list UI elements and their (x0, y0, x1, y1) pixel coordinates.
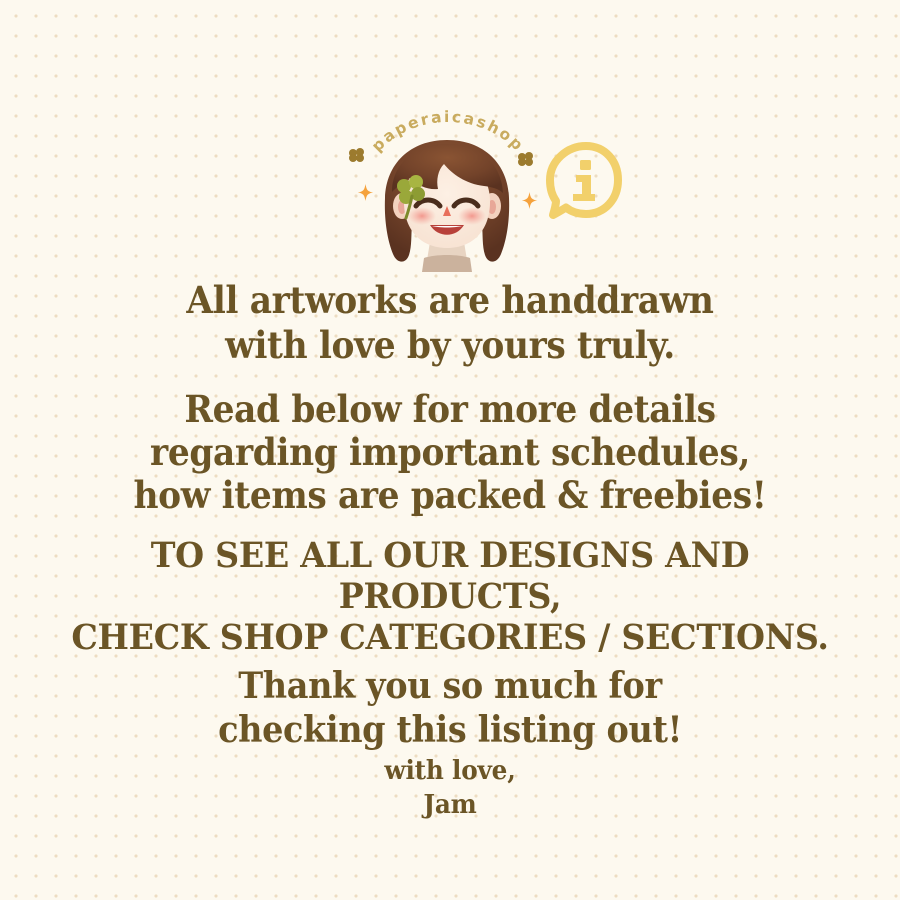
signature-line-1: with love, (23, 754, 878, 788)
listing-info-card: paperaicashop (0, 0, 900, 900)
thanks-line-2: checking this listing out! (32, 708, 869, 752)
signature-line-2: Jam (23, 788, 878, 822)
info-dot (580, 160, 591, 170)
info-letter-stem (573, 175, 595, 201)
thanks-line-1: Thank you so much for (32, 664, 869, 708)
callout-line-3: CHECK SHOP CATEGORIES / SECTIONS. (23, 617, 878, 658)
signature: with love, Jam (23, 754, 878, 822)
collar (422, 255, 472, 272)
paragraph-thanks: Thank you so much for checking this list… (32, 664, 869, 752)
avatar (366, 134, 528, 274)
callout-line-1: TO SEE ALL OUR DESIGNS AND (23, 535, 878, 576)
callout-line-2: PRODUCTS, (23, 576, 878, 617)
cheek-right (458, 207, 486, 225)
clover-icon (348, 148, 365, 163)
cheek-left (408, 207, 436, 225)
message-body: All artworks are handdrawn with love by … (0, 278, 900, 822)
paragraph-read-more: Read below for more details regarding im… (32, 388, 869, 517)
read-line-1: Read below for more details (32, 388, 869, 431)
info-icon[interactable] (546, 140, 622, 228)
paragraph-intro: All artworks are handdrawn with love by … (32, 278, 869, 368)
read-line-3: how items are packed & freebies! (32, 474, 869, 517)
intro-line-2: with love by yours truly. (32, 323, 869, 368)
shop-logo: paperaicashop (352, 112, 542, 280)
intro-line-1: All artworks are handdrawn (32, 278, 869, 323)
read-line-2: regarding important schedules, (32, 431, 869, 474)
brand-header: paperaicashop (0, 112, 900, 280)
paragraph-callout: TO SEE ALL OUR DESIGNS AND PRODUCTS, CHE… (23, 535, 878, 658)
